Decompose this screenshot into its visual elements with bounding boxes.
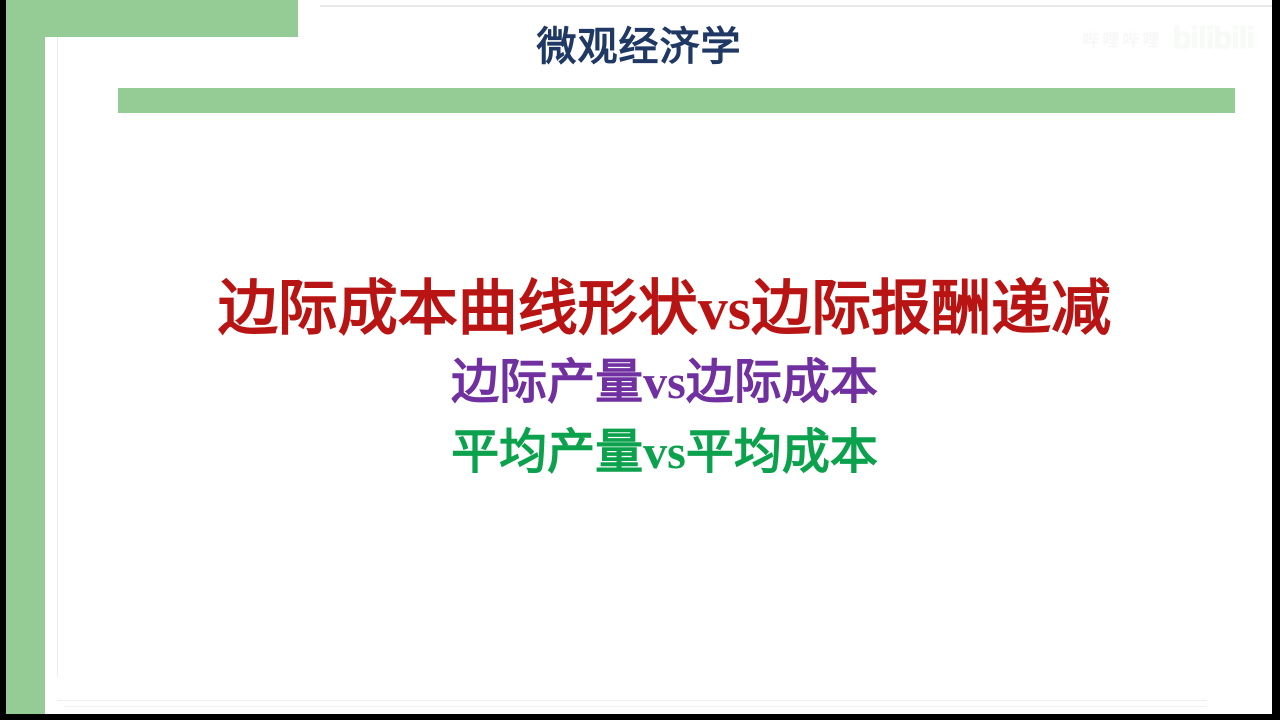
decor-horizontal-green-bar <box>118 88 1235 113</box>
decor-bottom-hairline <box>57 700 1207 701</box>
decor-top-rule <box>320 5 1272 7</box>
decor-left-green-bar <box>6 0 45 714</box>
decor-bottom-hairline-secondary <box>64 706 1207 707</box>
slide-header-title: 微观经济学 <box>6 20 1272 74</box>
headline-line-primary: 边际成本曲线形状vs边际报酬递减 <box>57 270 1272 348</box>
headline-line-secondary: 边际产量vs边际成本 <box>57 348 1272 418</box>
slide-content-headline-block: 边际成本曲线形状vs边际报酬递减 边际产量vs边际成本 平均产量vs平均成本 <box>57 270 1272 488</box>
presentation-slide: 微观经济学 哔哩哔哩 bilibili 边际成本曲线形状vs边际报酬递减 边际产… <box>6 0 1272 714</box>
video-player-frame: 微观经济学 哔哩哔哩 bilibili 边际成本曲线形状vs边际报酬递减 边际产… <box>0 0 1280 720</box>
headline-line-tertiary: 平均产量vs平均成本 <box>57 418 1272 488</box>
